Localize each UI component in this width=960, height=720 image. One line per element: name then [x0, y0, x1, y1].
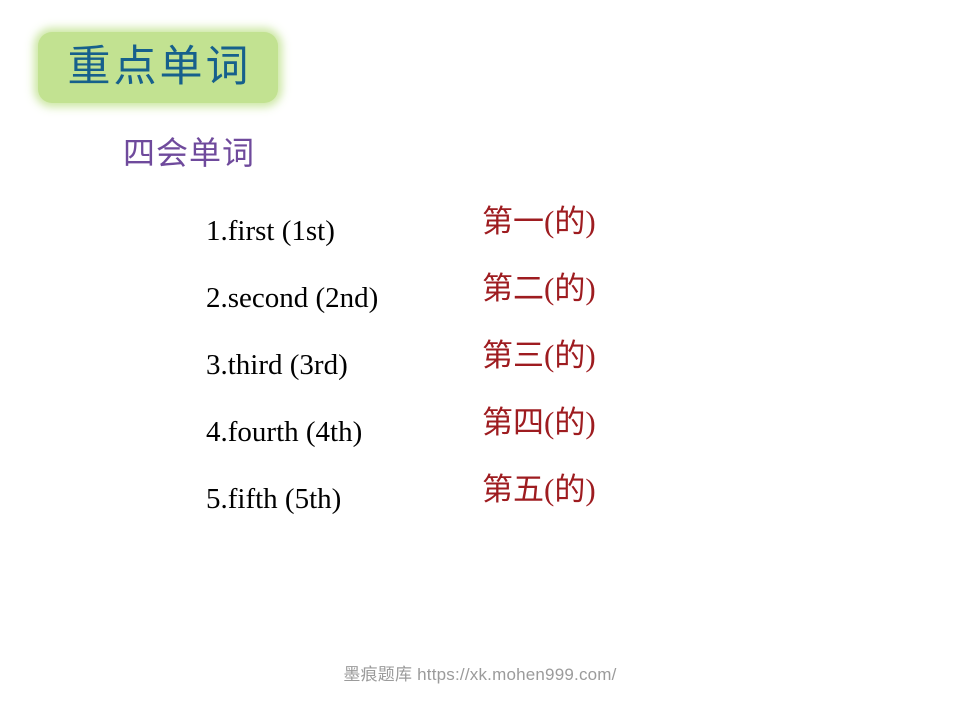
word-chinese: 第五(的): [482, 474, 596, 507]
list-item: 3.third (3rd) 第三(的): [0, 338, 960, 405]
page-title: 重点单词: [38, 32, 278, 103]
list-item: 4.fourth (4th) 第四(的): [0, 405, 960, 472]
word-english: 5.fifth (5th): [206, 484, 341, 514]
section-subtitle: 四会单词: [123, 136, 255, 171]
word-chinese: 第二(的): [482, 273, 596, 306]
word-english: 3.third (3rd): [206, 350, 348, 380]
word-chinese: 第三(的): [482, 340, 596, 373]
title-banner: 重点单词: [38, 32, 278, 103]
word-chinese: 第一(的): [482, 206, 596, 239]
list-item: 5.fifth (5th) 第五(的): [0, 472, 960, 539]
word-english: 2.second (2nd): [206, 283, 378, 313]
word-english: 4.fourth (4th): [206, 417, 362, 447]
word-english: 1.first (1st): [206, 216, 335, 246]
word-chinese: 第四(的): [482, 407, 596, 440]
slide-canvas: 重点单词 四会单词 1.first (1st) 第一(的) 2.second (…: [0, 0, 960, 720]
list-item: 2.second (2nd) 第二(的): [0, 271, 960, 338]
footer-watermark: 墨痕题库 https://xk.mohen999.com/: [0, 665, 960, 685]
vocabulary-list: 1.first (1st) 第一(的) 2.second (2nd) 第二(的)…: [0, 204, 960, 539]
list-item: 1.first (1st) 第一(的): [0, 204, 960, 271]
